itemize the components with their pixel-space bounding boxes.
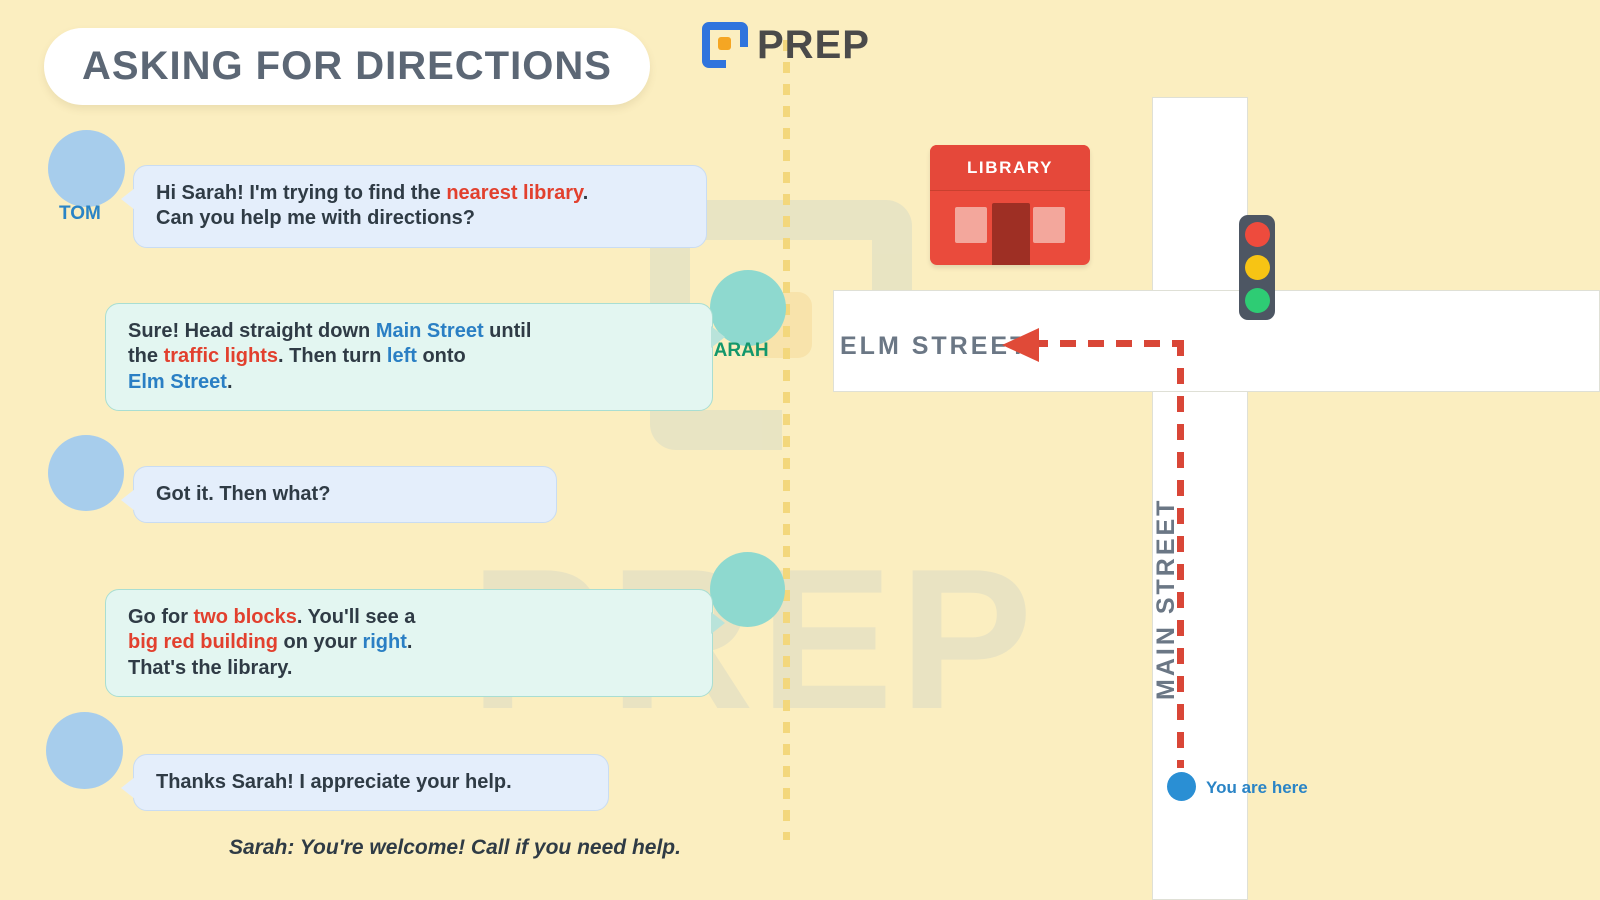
- library-signboard: LIBRARY: [930, 145, 1090, 191]
- traffic-light-icon: [1239, 215, 1275, 320]
- infographic-canvas: PREP ELM STREET MAIN STREET LIBRARY You …: [0, 0, 1600, 900]
- chat-bubble-1-line-2: Can you help me with directions?: [156, 206, 684, 231]
- traffic-light-yellow: [1245, 255, 1270, 280]
- chat-bubble-5-line-1: Thanks Sarah! I appreciate your help.: [156, 770, 586, 795]
- closing-note: Sarah: You're welcome! Call if you need …: [229, 836, 681, 860]
- library-door: [992, 203, 1030, 265]
- route-path-horizontal: [1032, 340, 1184, 347]
- chat-bubble-1: Hi Sarah! I'm trying to find the nearest…: [133, 165, 707, 248]
- chat-bubble-4: Go for two blocks. You'll see a big red …: [105, 589, 713, 697]
- traffic-light-red: [1245, 222, 1270, 247]
- brand-name: PREP: [757, 23, 870, 68]
- chat-bubble-2-line-3: Elm Street.: [128, 370, 690, 395]
- chat-bubble-3: Got it. Then what?: [133, 466, 557, 523]
- page-title-text: ASKING FOR DIRECTIONS: [82, 44, 612, 88]
- chat-bubble-2-line-2: the traffic lights. Then turn left onto: [128, 344, 690, 369]
- library-window-right: [1033, 207, 1065, 243]
- panel-divider: [783, 40, 790, 840]
- you-are-here-label: You are here: [1206, 778, 1308, 798]
- chat-bubble-5: Thanks Sarah! I appreciate your help.: [133, 754, 609, 811]
- avatar-tom-3: [46, 712, 123, 789]
- library-label: LIBRARY: [967, 158, 1053, 178]
- avatar-tom-2: [48, 435, 124, 511]
- chat-bubble-2: Sure! Head straight down Main Street unt…: [105, 303, 713, 411]
- traffic-light-green: [1245, 288, 1270, 313]
- chat-bubble-4-line-3: That's the library.: [128, 656, 690, 681]
- chat-bubble-3-line-1: Got it. Then what?: [156, 482, 534, 507]
- page-title: ASKING FOR DIRECTIONS: [44, 28, 650, 105]
- you-are-here-dot-icon: [1167, 772, 1196, 801]
- avatar-tom-1: [48, 130, 125, 207]
- library-building: LIBRARY: [930, 145, 1090, 265]
- chat-bubble-4-line-1: Go for two blocks. You'll see a: [128, 605, 690, 630]
- route-direction-arrow-icon: [1002, 328, 1039, 362]
- name-label-tom: TOM: [59, 203, 101, 225]
- prep-logo-icon: [702, 22, 748, 68]
- chat-bubble-4-line-2: big red building on your right.: [128, 630, 690, 655]
- chat-bubble-1-line-1: Hi Sarah! I'm trying to find the nearest…: [156, 181, 684, 206]
- chat-bubble-2-line-1: Sure! Head straight down Main Street unt…: [128, 319, 690, 344]
- brand-logo: PREP: [702, 22, 870, 68]
- elm-street-label: ELM STREET: [840, 332, 1028, 361]
- route-path-vertical: [1177, 340, 1184, 768]
- library-window-left: [955, 207, 987, 243]
